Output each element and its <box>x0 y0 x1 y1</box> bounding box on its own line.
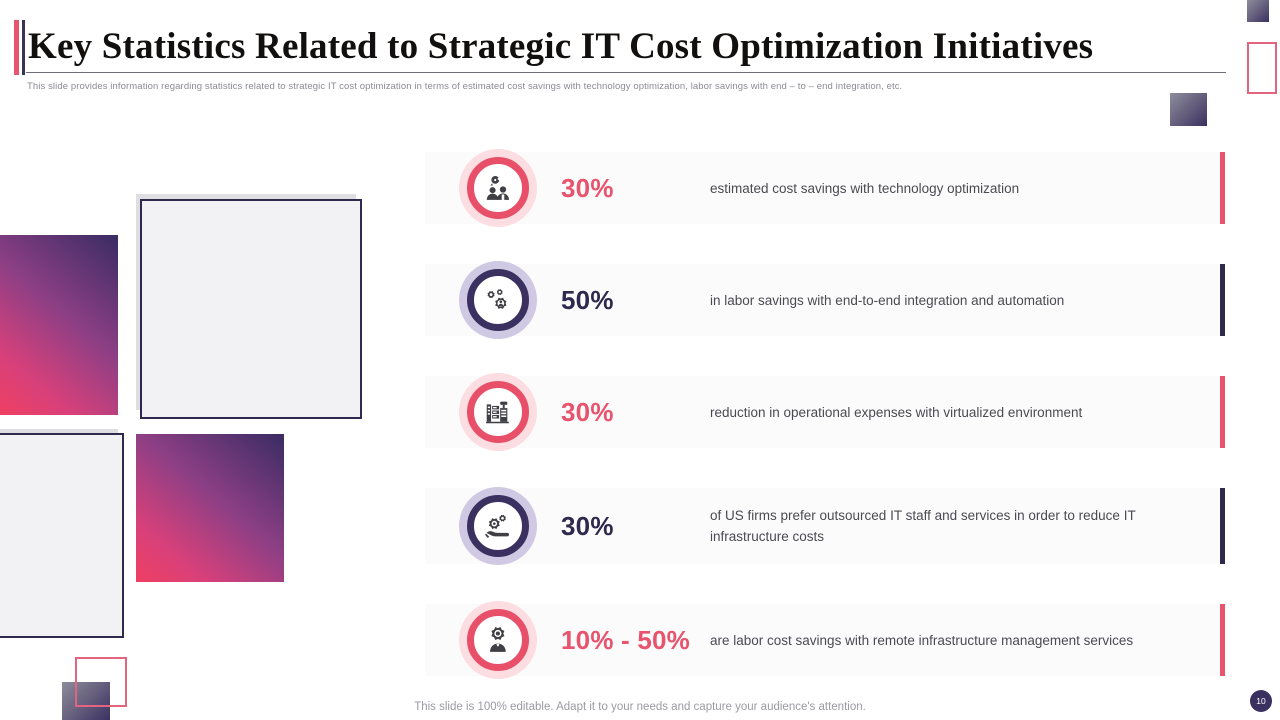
decor-gradient-square-right <box>1170 93 1207 126</box>
stat-description: reduction in operational expenses with v… <box>710 402 1185 423</box>
stat-row[interactable]: 30% reduction in operational expenses wi… <box>425 376 1225 448</box>
statistics-list: 30% estimated cost savings with technolo… <box>425 152 1225 716</box>
gears-icon <box>467 269 529 331</box>
hand-gear-icon <box>467 495 529 557</box>
photo-two-colleagues-backdrop <box>0 435 122 636</box>
decor-gradient-square-left-mid <box>136 434 284 582</box>
stat-percent: 30% <box>561 397 614 428</box>
server-rack-icon <box>467 381 529 443</box>
decor-outline-square-bottom-left <box>75 657 127 707</box>
stat-icon-halo <box>459 149 537 227</box>
stat-percent: 10% - 50% <box>561 625 690 656</box>
footer-note: This slide is 100% editable. Adapt it to… <box>0 701 1280 713</box>
stat-icon-halo <box>459 261 537 339</box>
photo-team-meeting-backdrop <box>142 201 360 417</box>
decor-gradient-square-top-right <box>1247 0 1269 22</box>
title-accent-bar-navy <box>22 20 25 75</box>
stat-description: estimated cost savings with technology o… <box>710 178 1185 199</box>
stat-icon-halo <box>459 487 537 565</box>
stat-row[interactable]: 30% of US firms prefer outsourced IT sta… <box>425 488 1225 564</box>
title-divider <box>26 72 1226 73</box>
people-chat-icon <box>467 157 529 219</box>
stat-description: of US firms prefer outsourced IT staff a… <box>710 505 1175 547</box>
stat-row[interactable]: 30% estimated cost savings with technolo… <box>425 152 1225 224</box>
stat-row[interactable]: 50% in labor savings with end-to-end int… <box>425 264 1225 336</box>
photo-two-colleagues <box>0 433 124 638</box>
photo-team-meeting <box>140 199 362 419</box>
stat-percent: 30% <box>561 511 614 542</box>
page-number-badge: 10 <box>1250 690 1272 712</box>
stat-description: are labor cost savings with remote infra… <box>710 630 1185 651</box>
stat-row[interactable]: 10% - 50% are labor cost savings with re… <box>425 604 1225 676</box>
title-accent-bar-pink <box>14 20 19 75</box>
slide-subtitle: This slide provides information regardin… <box>27 81 1127 92</box>
page-title: Key Statistics Related to Strategic IT C… <box>28 24 1228 69</box>
person-gear-icon <box>467 609 529 671</box>
decor-outline-rect-top-right <box>1247 42 1277 94</box>
stat-percent: 50% <box>561 285 614 316</box>
decor-gradient-square-left-top <box>0 235 118 415</box>
stat-icon-halo <box>459 601 537 679</box>
stat-description: in labor savings with end-to-end integra… <box>710 290 1185 311</box>
stat-percent: 30% <box>561 173 614 204</box>
stat-icon-halo <box>459 373 537 451</box>
